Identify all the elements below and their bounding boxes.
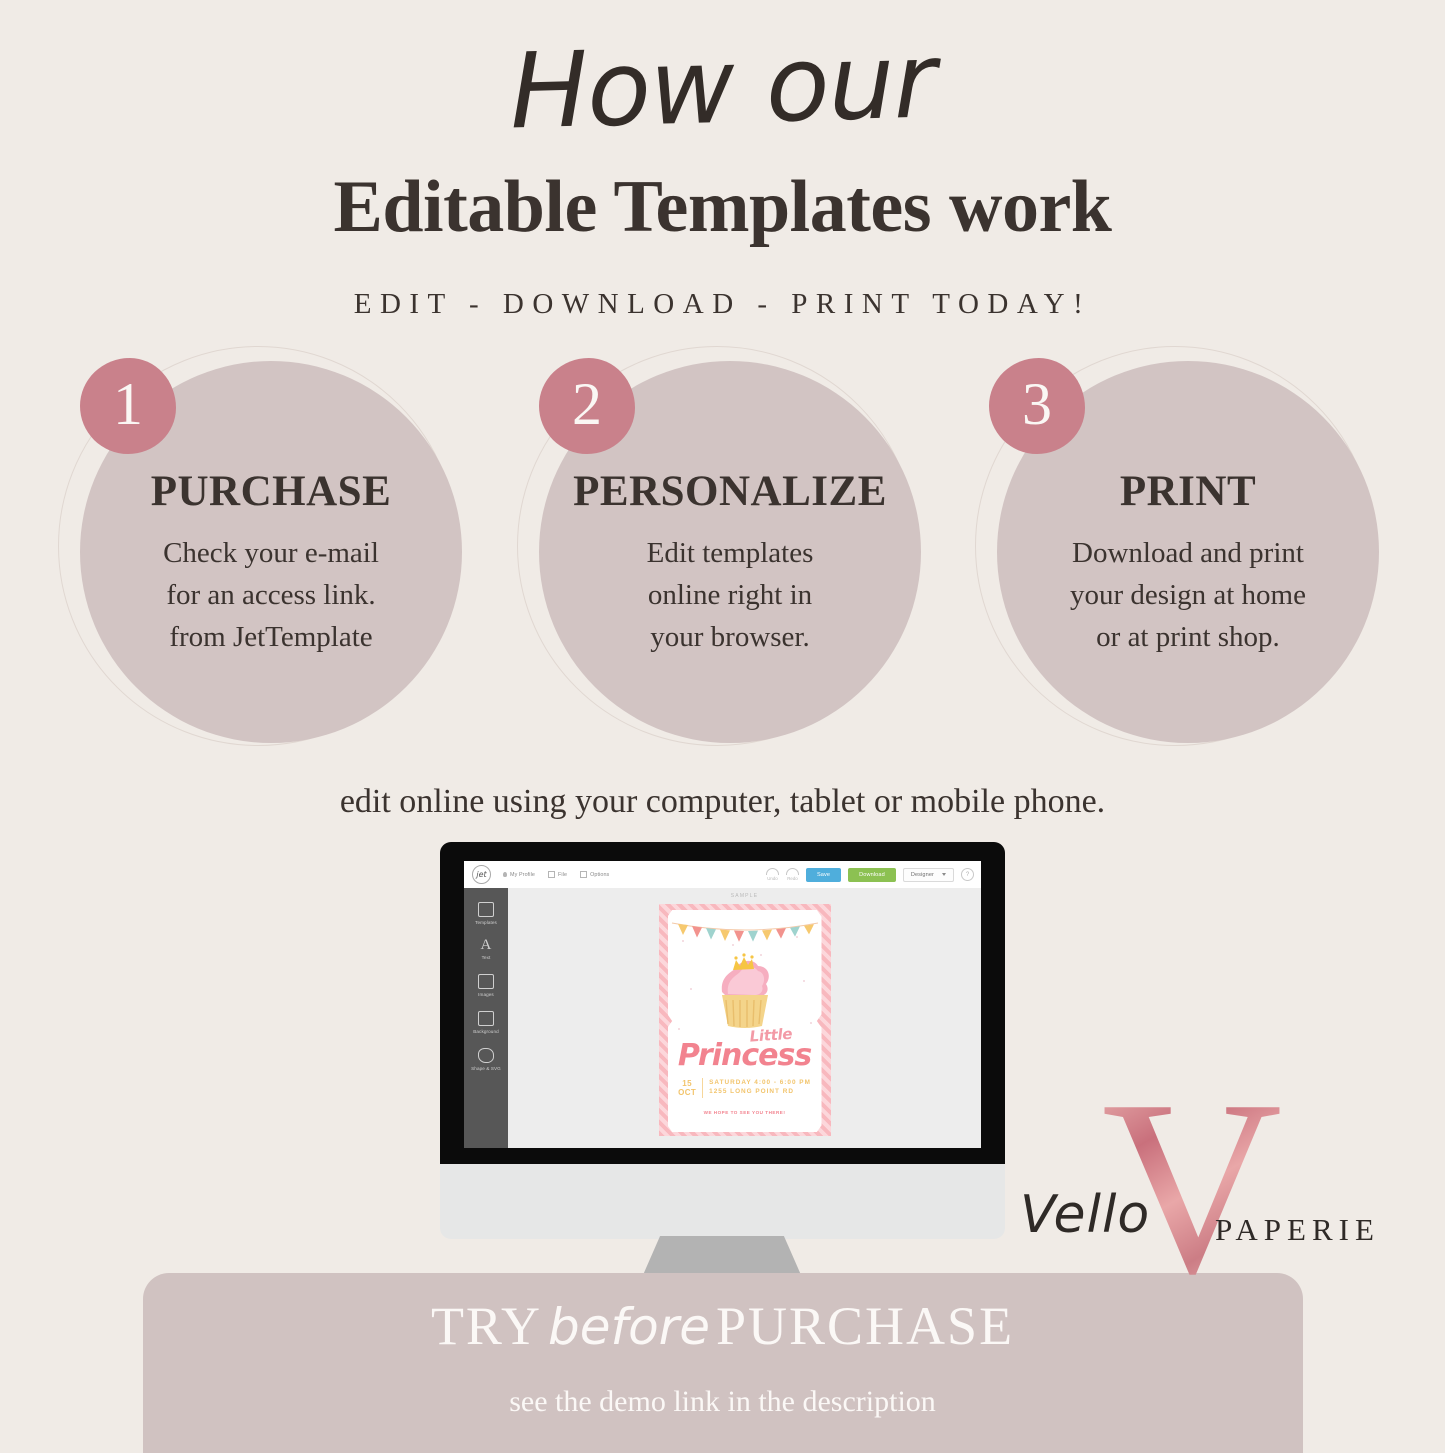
headline-subtitle: EDIT - DOWNLOAD - PRINT TODAY! (0, 288, 1445, 321)
card-address: 1255 LONG POINT RD (709, 1088, 811, 1097)
editor-menu: My Profile File Options (503, 871, 609, 878)
sidebar-item-templates[interactable]: Templates (464, 895, 508, 932)
sidebar-item-shape-svg[interactable]: Shape & SVG (464, 1041, 508, 1078)
sidebar-item-images[interactable]: Images (464, 967, 508, 1004)
step-number-badge: 3 (989, 358, 1085, 454)
save-button[interactable]: Save (806, 868, 841, 882)
step-card-purchase: 1 PURCHASE Check your e-mail for an acce… (68, 352, 468, 752)
monitor-mockup: jet My Profile File Options (440, 842, 1005, 1257)
sidebar-label: Background (473, 1029, 499, 1034)
headline-main: Editable Templates work (0, 170, 1445, 244)
logo-wordmark-paperie: PAPERIE (1215, 1212, 1380, 1248)
sidebar-item-text[interactable]: A Text (464, 932, 508, 967)
steps-row: 1 PURCHASE Check your e-mail for an acce… (0, 352, 1445, 752)
step-title: PRINT (1120, 467, 1256, 516)
cupcake-icon (702, 948, 788, 1030)
chevron-down-icon (942, 873, 946, 876)
help-icon[interactable]: ? (961, 868, 974, 881)
brand-logo: V Vello PAPERIE (1010, 1090, 1380, 1280)
menu-item-options[interactable]: Options (580, 871, 609, 878)
editor-topbar: jet My Profile File Options (464, 861, 981, 889)
templates-icon (478, 902, 494, 917)
step-card-print: 3 PRINT Download and print your design a… (985, 352, 1385, 752)
step-description: Check your e-mail for an access link. fr… (163, 532, 379, 658)
card-date: 15 OCT (678, 1079, 696, 1097)
redo-label: Redo (787, 876, 798, 881)
card-time: SATURDAY 4:00 - 6:00 PM (709, 1079, 811, 1088)
editor-topbar-actions: Undo Redo Save Download Designer ? (766, 868, 981, 882)
sidebar-label: Text (482, 955, 491, 960)
step-number-badge: 1 (80, 358, 176, 454)
sidebar-label: Images (478, 992, 494, 997)
poster-canvas: How our Editable Templates work EDIT - D… (0, 0, 1445, 1445)
images-icon (478, 974, 494, 989)
editor-canvas[interactable]: SAMPLE (508, 888, 981, 1148)
bunting-banner-icon (668, 918, 822, 948)
step-title: PERSONALIZE (573, 467, 887, 516)
undo-arrow-icon (766, 868, 779, 875)
try-word: TRY (431, 1296, 542, 1356)
card-date-month: OCT (678, 1088, 696, 1097)
jet-logo-icon[interactable]: jet (472, 865, 491, 884)
undo-label: Undo (767, 876, 778, 881)
designer-dropdown[interactable]: Designer (903, 868, 954, 882)
sidebar-item-background[interactable]: Background (464, 1004, 508, 1041)
download-button[interactable]: Download (848, 868, 896, 882)
step-title: PURCHASE (151, 467, 392, 516)
card-when-where: SATURDAY 4:00 - 6:00 PM 1255 LONG POINT … (709, 1079, 811, 1096)
step-number-badge: 2 (539, 358, 635, 454)
shape-svg-icon (478, 1048, 494, 1063)
before-word: before (542, 1298, 716, 1356)
invitation-card-inner: Little Princess 15 OCT SATURDAY 4:00 - 6… (668, 910, 822, 1132)
sidebar-label: Templates (475, 920, 497, 925)
card-event-details: 15 OCT SATURDAY 4:00 - 6:00 PM 1255 LONG… (668, 1078, 822, 1098)
sidebar-label: Shape & SVG (471, 1066, 501, 1071)
menu-label: Options (590, 872, 609, 878)
redo-button[interactable]: Redo (786, 868, 799, 881)
card-detail-divider (702, 1078, 703, 1098)
invitation-card[interactable]: Little Princess 15 OCT SATURDAY 4:00 - 6… (659, 904, 831, 1136)
menu-item-my-profile[interactable]: My Profile (503, 872, 535, 878)
menu-label: File (558, 872, 567, 878)
person-icon (503, 872, 507, 877)
menu-label: My Profile (510, 872, 535, 878)
monitor-chin (440, 1164, 1005, 1239)
editor-sidebar: Templates A Text Images Background Shape… (464, 888, 508, 1148)
step-description: Download and print your design at home o… (1070, 532, 1306, 658)
background-icon (478, 1011, 494, 1026)
step-card-personalize: 2 PERSONALIZE Edit templates online righ… (527, 352, 927, 752)
card-footer-note: WE HOPE TO SEE YOU THERE! (668, 1110, 822, 1115)
logo-script-vello: Vello (1020, 1185, 1150, 1245)
redo-arrow-icon (786, 868, 799, 875)
card-title-main: Princess (668, 1038, 822, 1073)
headline-script: How our (0, 15, 1445, 157)
sliders-icon (580, 871, 587, 878)
canvas-sample-label: SAMPLE (508, 888, 981, 899)
purchase-word: PURCHASE (716, 1296, 1014, 1356)
editor-screen: jet My Profile File Options (464, 861, 981, 1148)
demo-link-note: see the demo link in the description (0, 1385, 1445, 1419)
step-description: Edit templates online right in your brow… (647, 532, 814, 658)
text-icon: A (479, 939, 493, 952)
card-date-day: 15 (678, 1079, 696, 1088)
file-icon (548, 871, 555, 878)
designer-label: Designer (911, 872, 934, 878)
menu-item-file[interactable]: File (548, 871, 567, 878)
device-caption: edit online using your computer, tablet … (0, 783, 1445, 821)
undo-button[interactable]: Undo (766, 868, 779, 881)
